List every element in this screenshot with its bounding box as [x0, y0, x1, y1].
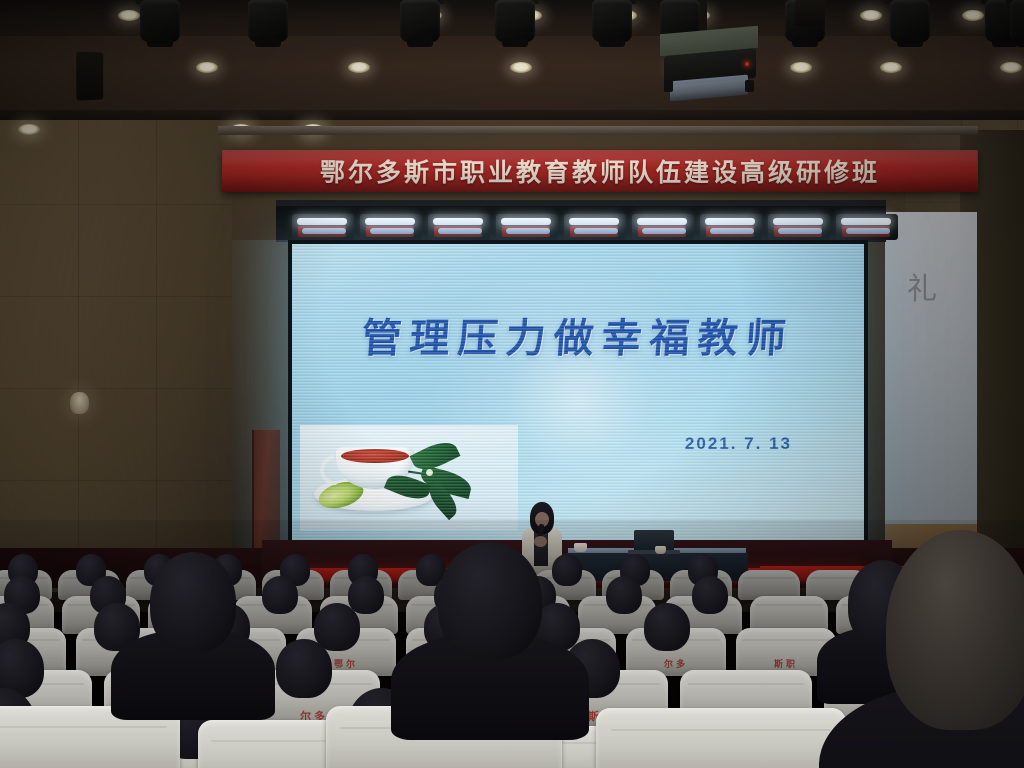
right-wall-panel: 礼	[885, 212, 977, 524]
projector-mount	[700, 0, 707, 32]
wall-tile-line	[0, 204, 232, 205]
slide-title: 管理压力做幸福教师	[292, 306, 864, 364]
seat-cover-fold	[688, 683, 804, 685]
projector-status-led	[745, 62, 749, 66]
wall-sconce-icon	[70, 392, 89, 414]
wash-light-tube	[365, 218, 415, 225]
wash-light-tube	[302, 228, 346, 234]
seat-cover-fold	[742, 639, 830, 641]
wash-light-tube	[569, 218, 619, 225]
wash-light-tube	[297, 218, 347, 225]
wash-light-icon	[768, 214, 830, 240]
banner-text: 鄂尔多斯市职业教育教师队伍建设高级研修班	[320, 153, 880, 189]
audience-head	[644, 603, 690, 651]
wall-tile-line	[0, 388, 232, 389]
wash-light-icon	[292, 214, 354, 240]
wash-light-icon	[360, 214, 422, 240]
wall-tile-line	[156, 112, 157, 592]
spotlight-icon	[140, 0, 180, 42]
wash-light-icon	[700, 214, 762, 240]
slide-date: 2021. 7. 13	[685, 434, 792, 454]
audience-seating: 斯职多斯尔多鄂尔斯职多斯尔多斯职多斯鄂尔斯职多斯尔多鄂尔斯职多斯尔多斯职多斯鄂尔…	[0, 530, 1024, 768]
wash-light-tube	[438, 228, 482, 234]
audience-head	[886, 530, 1024, 730]
audience-head	[348, 576, 384, 614]
downlight-icon	[18, 124, 40, 135]
projector-foot	[664, 80, 673, 92]
wash-light-tube	[506, 228, 550, 234]
downlight-icon	[1000, 62, 1022, 73]
audience-head	[276, 639, 332, 698]
tea-liquid	[341, 449, 409, 463]
wash-light-icon	[632, 214, 694, 240]
audience-head	[692, 576, 728, 614]
audience-seat: 尔多	[596, 708, 846, 768]
conference-hall-photo: 礼 鄂尔多斯市职业教育教师队伍建设高级研修班 管理压力做幸福教师 2021. 7…	[0, 0, 1024, 768]
wash-light-tube	[710, 228, 754, 234]
slide-teacup-photo	[300, 425, 518, 531]
spotlight-icon	[495, 0, 535, 42]
downlight-icon	[348, 62, 370, 73]
ceiling-band	[0, 36, 1024, 114]
audience-head	[150, 552, 236, 652]
projector-icon	[660, 30, 758, 92]
downlight-icon	[880, 62, 902, 73]
audience-head	[606, 576, 642, 614]
downlight-icon	[790, 62, 812, 73]
audience-head	[438, 542, 542, 660]
wash-light-tube	[370, 228, 414, 234]
wash-light-tube	[846, 228, 890, 234]
flower-bud	[426, 469, 433, 476]
presentation-slide: 管理压力做幸福教师 2021. 7. 13	[292, 244, 864, 546]
wall-tile-line	[78, 112, 79, 592]
spotlight-icon	[248, 0, 288, 42]
speaker-icon	[795, 0, 825, 26]
audience-head	[262, 576, 298, 614]
spotlight-icon	[400, 0, 440, 42]
banner-rod	[218, 126, 978, 135]
wall-tile-line	[0, 480, 232, 481]
projector-foot	[745, 80, 754, 92]
seat-cover-fold	[742, 577, 797, 579]
seat-cover-fold	[0, 726, 167, 728]
wash-light-icon	[496, 214, 558, 240]
wash-light-icon	[836, 214, 898, 240]
wall-panel-character: 礼	[907, 264, 937, 308]
spotlight-icon	[592, 0, 632, 42]
downlight-icon	[510, 62, 532, 73]
wash-light-tube	[501, 218, 551, 225]
wash-light-tube	[705, 218, 755, 225]
wash-light-icon	[564, 214, 626, 240]
ceiling-lip	[0, 110, 1024, 120]
wall-tile-line	[0, 296, 232, 297]
downlight-icon	[196, 62, 218, 73]
seat-cover-embroidery: 尔多	[626, 657, 726, 670]
event-banner: 鄂尔多斯市职业教育教师队伍建设高级研修班	[222, 150, 979, 192]
wash-light-tube	[642, 228, 686, 234]
audience-head	[552, 554, 582, 586]
seat-cover-fold	[755, 604, 824, 606]
wash-light-icon	[428, 214, 490, 240]
wash-light-tube	[778, 228, 822, 234]
left-wall	[0, 112, 232, 592]
led-screen: 管理压力做幸福教师 2021. 7. 13	[288, 240, 868, 550]
speaker-icon	[76, 52, 103, 101]
wash-light-tube	[433, 218, 483, 225]
wash-light-tube	[637, 218, 687, 225]
downlight-icon	[118, 10, 140, 21]
spotlight-icon	[890, 0, 930, 42]
wash-light-tube	[841, 218, 891, 225]
downlight-icon	[962, 10, 984, 21]
spotlight-icon	[1010, 0, 1024, 42]
wash-light-tube	[773, 218, 823, 225]
seat-cover-fold	[611, 729, 831, 731]
wash-light-tube	[574, 228, 618, 234]
downlight-icon	[860, 10, 882, 21]
